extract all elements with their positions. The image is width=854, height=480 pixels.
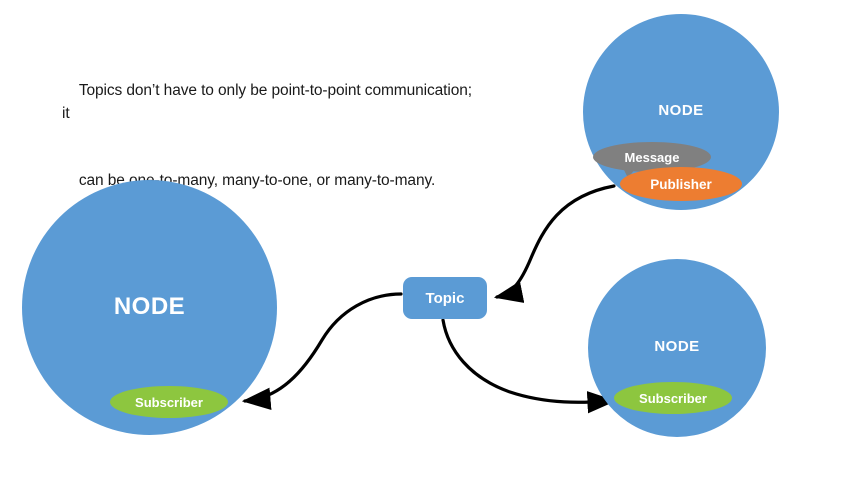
topic-label: Topic <box>426 290 465 307</box>
node-left-label: NODE <box>22 293 277 321</box>
slide-canvas: Topics don’t have to only be point-to-po… <box>0 0 854 480</box>
subscriber-left-label: Subscriber <box>135 395 203 410</box>
node-top-right[interactable]: NODE Message Publisher <box>583 14 779 210</box>
node-bottom-right-label: NODE <box>588 338 766 355</box>
subscriber-ellipse-bottom-right[interactable]: Subscriber <box>614 382 732 414</box>
arrow-publisher-to-topic <box>497 186 614 297</box>
publisher-ellipse[interactable]: Publisher <box>620 167 742 201</box>
node-top-right-label: NODE <box>583 102 779 119</box>
caption-line-1: Topics don’t have to only be point-to-po… <box>62 82 476 121</box>
subscriber-ellipse-left[interactable]: Subscriber <box>110 386 228 418</box>
publisher-label: Publisher <box>650 177 712 192</box>
topic-box[interactable]: Topic <box>403 277 487 319</box>
arrow-topic-to-subscriber-bottom-right <box>443 320 613 402</box>
subscriber-bottom-right-label: Subscriber <box>639 391 707 406</box>
node-left[interactable]: NODE Subscriber <box>22 180 277 435</box>
node-bottom-right[interactable]: NODE Subscriber <box>588 259 766 437</box>
message-label: Message <box>625 150 680 165</box>
